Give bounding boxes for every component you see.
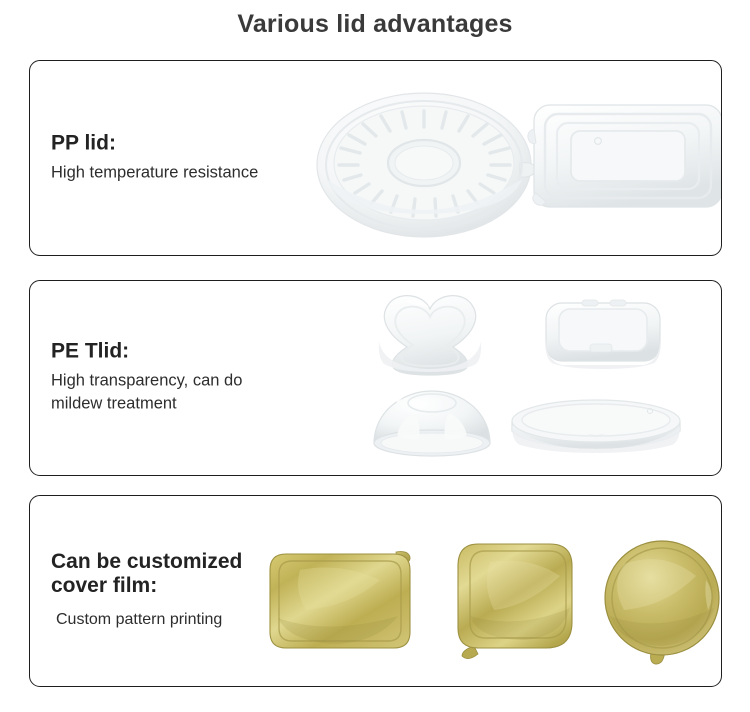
panel-cover-film-subtitle: Custom pattern printing xyxy=(51,609,242,632)
panel-pe-lid: PE Tlid: High transparency, can do milde… xyxy=(29,280,722,476)
product-feature-page: Various lid advantages PP lid: High temp… xyxy=(0,0,750,712)
panel-pe-lid-text: PE Tlid: High transparency, can do milde… xyxy=(51,340,242,417)
square-gold-foil-lid-image xyxy=(454,538,584,666)
panel-cover-film-heading: Can be customized cover film: xyxy=(51,550,242,597)
square-pe-lid-image xyxy=(528,289,678,381)
panel-pp-lid-heading: PP lid: xyxy=(51,131,258,155)
panel-pe-lid-subtitle: High transparency, can do mildew treatme… xyxy=(51,369,242,416)
panel-cover-film: Can be customized cover film: Custom pat… xyxy=(29,495,722,687)
rectangular-pp-lid-image xyxy=(526,79,722,239)
dome-pe-lid-image xyxy=(360,373,505,468)
panel-cover-film-text: Can be customized cover film: Custom pat… xyxy=(51,550,242,632)
oval-pe-lid-image xyxy=(504,391,689,463)
page-title: Various lid advantages xyxy=(0,10,750,39)
panel-pe-lid-heading: PE Tlid: xyxy=(51,340,242,364)
round-gold-foil-lid-image xyxy=(594,536,722,668)
rectangular-gold-foil-lid-image xyxy=(266,548,426,658)
panel-pp-lid-text: PP lid: High temperature resistance xyxy=(51,131,258,184)
panel-pp-lid: PP lid: High temperature resistance xyxy=(29,60,722,256)
panel-pp-lid-subtitle: High temperature resistance xyxy=(51,161,258,184)
heart-shaped-pe-lid-image xyxy=(355,287,505,379)
round-ribbed-pp-lid-image xyxy=(312,83,542,238)
